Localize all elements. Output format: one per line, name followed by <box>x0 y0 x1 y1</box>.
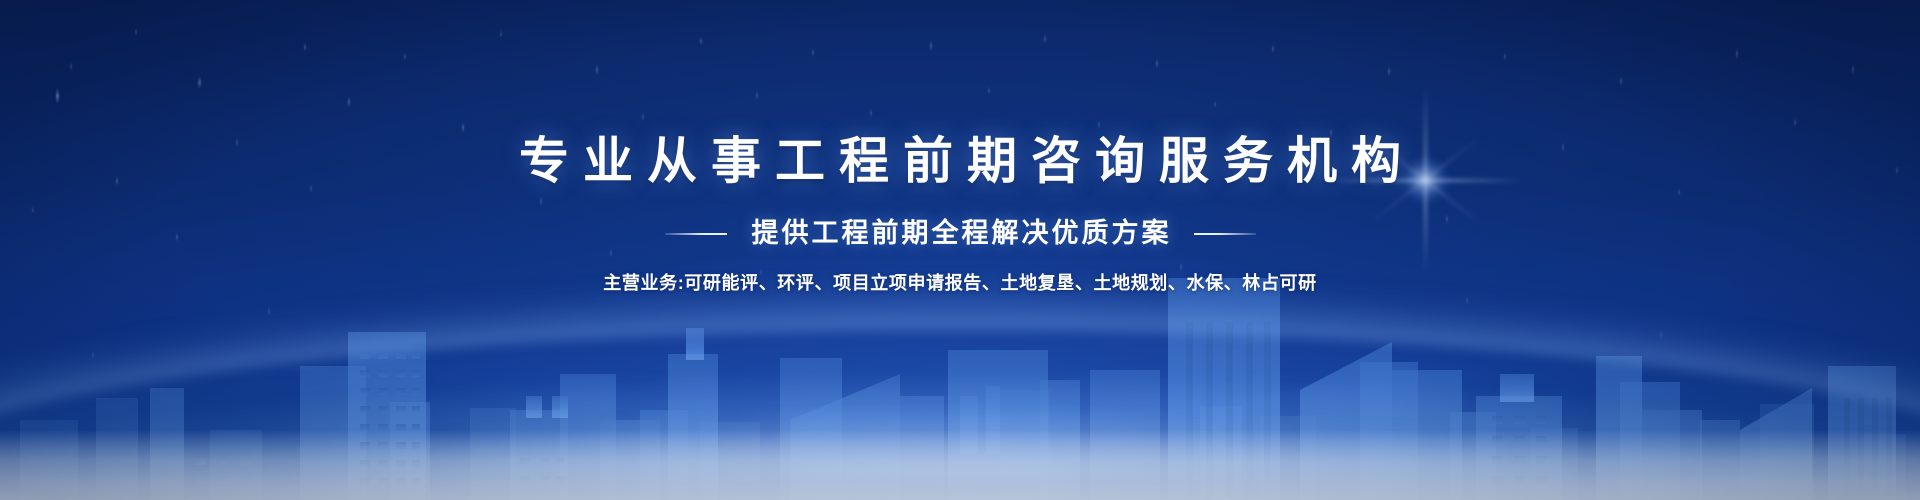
decorative-rule-right <box>1194 233 1256 235</box>
banner-copy: 专业从事工程前期咨询服务机构 提供工程前期全程解决优质方案 主营业务:可研能评、… <box>0 0 1920 500</box>
banner-subheadline: 提供工程前期全程解决优质方案 <box>749 220 1172 247</box>
decorative-rule-left <box>665 233 727 235</box>
hero-banner: 专业从事工程前期咨询服务机构 提供工程前期全程解决优质方案 主营业务:可研能评、… <box>0 0 1920 500</box>
banner-headline: 专业从事工程前期咨询服务机构 <box>505 136 1415 186</box>
banner-subheadline-row: 提供工程前期全程解决优质方案 <box>665 220 1256 247</box>
banner-services-line: 主营业务:可研能评、环评、项目立项申请报告、土地复垦、土地规划、水保、林占可研 <box>603 274 1316 292</box>
